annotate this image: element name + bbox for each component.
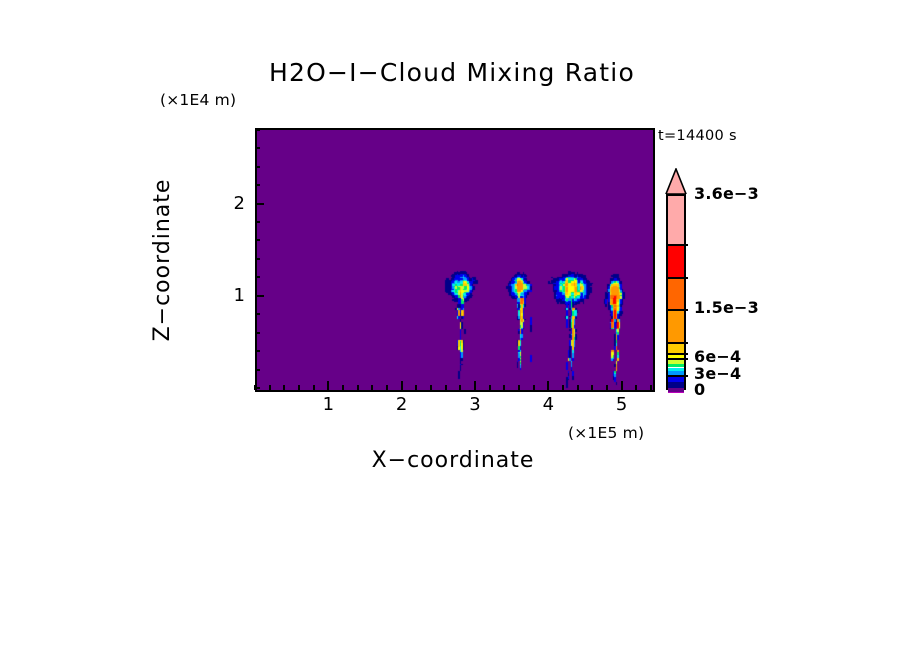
colorbar-separator [668,309,688,311]
colorbar [664,168,688,390]
x-tick-minor [269,385,271,390]
x-tick-minor [386,385,388,390]
y-tick-minor [255,258,260,260]
x-tick-label: 3 [455,394,495,415]
figure-canvas: H2O−I−Cloud Mixing Ratio (×1E4 m) t=1440… [0,0,904,654]
y-tick-minor [255,129,260,131]
x-tick-minor [533,385,535,390]
colorbar-tick-label: 3.6e−3 [694,184,759,203]
y-tick-minor [255,166,260,168]
colorbar-separator [668,358,688,360]
y-axis-unit-label: (×1E4 m) [160,91,236,109]
x-tick-minor [459,385,461,390]
y-tick-minor [255,332,260,334]
x-tick-minor [298,385,300,390]
x-tick-major [327,381,329,390]
colorbar-band [668,245,684,278]
y-tick-minor [255,276,260,278]
x-tick-minor [650,385,652,390]
colorbar-top-arrow-icon [664,168,688,194]
x-tick-minor [489,385,491,390]
heatmap-canvas [257,130,653,390]
colorbar-tick-label: 1.5e−3 [694,298,759,317]
x-tick-minor [371,385,373,390]
y-tick-minor [255,221,260,223]
x-tick-label: 2 [382,394,422,415]
timestamp-annotation: t=14400 s [658,128,737,144]
colorbar-band [668,278,684,311]
x-tick-minor [430,385,432,390]
colorbar-separator [668,244,688,246]
x-tick-label: 1 [308,394,348,415]
y-axis-label: Z−coordinate [150,160,175,360]
chart-title: H2O−I−Cloud Mixing Ratio [0,58,904,87]
colorbar-gradient [666,194,686,390]
x-tick-minor [503,385,505,390]
colorbar-tick-label: 0 [694,380,705,399]
colorbar-separator [668,353,688,355]
plot-area [255,128,655,392]
x-tick-minor [591,385,593,390]
y-tick-minor [255,387,260,389]
y-tick-major [255,203,264,205]
y-tick-minor [255,239,260,241]
x-tick-minor [415,385,417,390]
colorbar-band [668,196,684,245]
y-tick-label: 2 [215,193,245,214]
x-tick-major [547,381,549,390]
colorbar-separator [668,342,688,344]
x-tick-minor [357,385,359,390]
x-tick-label: 4 [528,394,568,415]
x-axis-label: X−coordinate [255,448,651,473]
y-tick-major [255,295,264,297]
x-tick-minor [577,385,579,390]
x-tick-major [401,381,403,390]
x-tick-minor [445,385,447,390]
x-tick-minor [562,385,564,390]
colorbar-separator [668,375,688,377]
x-tick-minor [606,385,608,390]
y-tick-label: 1 [215,285,245,306]
colorbar-band [668,392,684,393]
x-tick-minor [283,385,285,390]
colorbar-band [668,310,684,343]
y-tick-minor [255,369,260,371]
x-tick-major [621,381,623,390]
x-axis-unit-label: (×1E5 m) [568,424,644,442]
y-tick-minor [255,313,260,315]
y-tick-minor [255,184,260,186]
x-tick-label: 5 [602,394,642,415]
x-tick-minor [342,385,344,390]
colorbar-separator [668,277,688,279]
y-tick-minor [255,147,260,149]
x-tick-minor [635,385,637,390]
x-tick-minor [518,385,520,390]
x-tick-major [474,381,476,390]
y-tick-minor [255,350,260,352]
x-tick-minor [313,385,315,390]
